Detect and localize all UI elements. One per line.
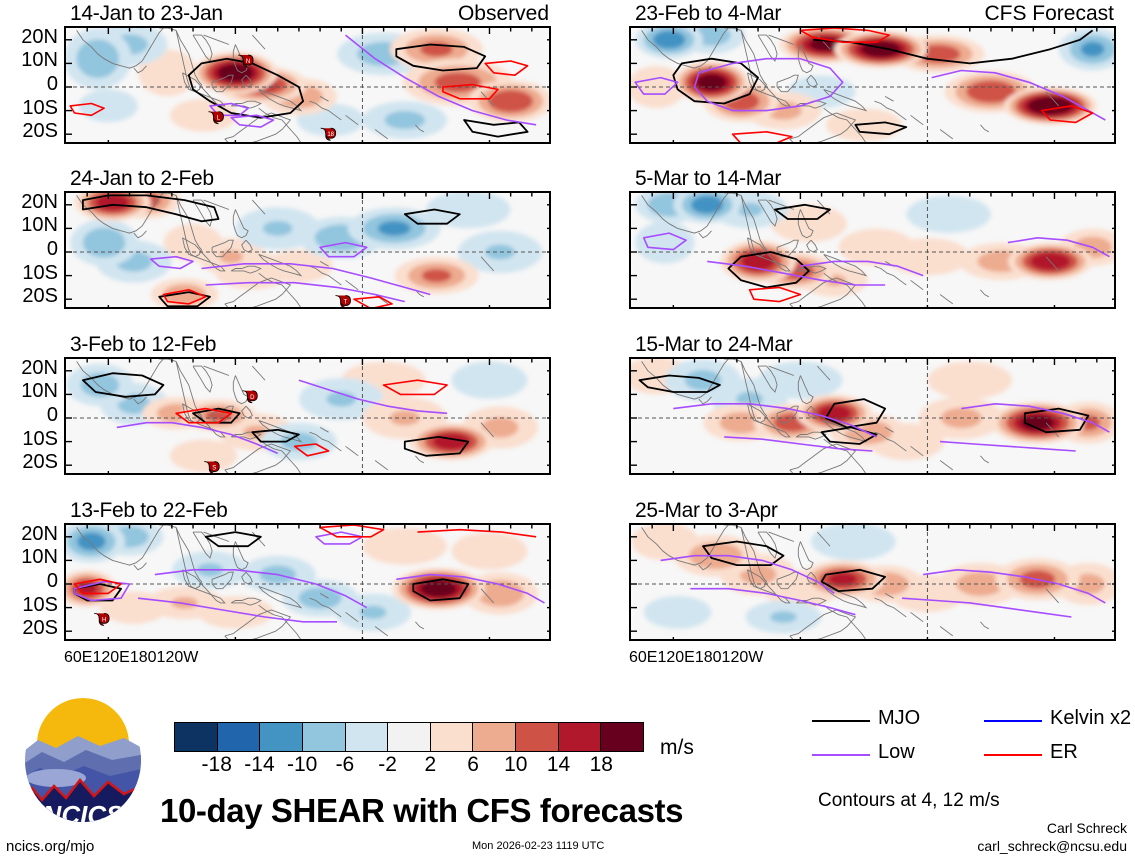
svg-text:H: H	[102, 617, 106, 623]
map-canvas: H	[66, 525, 551, 641]
contour-legend: MJOKelvin x2LowER	[812, 708, 1132, 770]
colorbar-segment	[388, 723, 431, 751]
panel-title: 24-Jan to 2-Feb	[70, 167, 214, 191]
author-name: Carl Schreck	[1047, 820, 1127, 836]
colorbar-tick-labels: -18-14-10-6-226101418	[174, 753, 644, 781]
map-panel[interactable]: H	[64, 523, 551, 641]
x-tick-label: 120W	[722, 649, 764, 666]
panel-title: 13-Feb to 22-Feb	[70, 499, 227, 523]
colorbar-segment	[431, 723, 474, 751]
logo-text: NCICS	[43, 800, 125, 830]
colorbar-tick-label: -6	[336, 753, 355, 777]
colorbar-tick-label: 14	[547, 753, 570, 777]
map-canvas: T	[66, 193, 551, 309]
map-canvas: DS	[66, 359, 551, 475]
colorbar-tick-label: -2	[378, 753, 397, 777]
svg-text:D: D	[250, 395, 255, 401]
shaded-anomaly-field	[66, 193, 551, 309]
colorbar-segment	[601, 723, 643, 751]
x-tick-label: 60E	[64, 649, 92, 666]
x-tick-label: 120E	[92, 649, 129, 666]
map-panel[interactable]	[629, 191, 1116, 309]
colorbar-segment	[175, 723, 218, 751]
column-header-label: Observed	[458, 2, 549, 26]
shaded-anomaly-field	[631, 193, 1116, 309]
panel-title: 25-Mar to 3-Apr	[635, 499, 778, 523]
y-tick-label: 0	[47, 571, 58, 591]
y-tick-label: 0	[47, 74, 58, 94]
panel-title: 14-Jan to 23-Jan	[70, 2, 223, 26]
y-tick-label: 10S	[22, 595, 58, 615]
y-tick-label: 10N	[21, 381, 58, 401]
x-tick-label: 120E	[657, 649, 694, 666]
ncics-logo[interactable]: NCICS	[20, 696, 146, 838]
column-header-label: CFS Forecast	[984, 2, 1114, 26]
y-tick-label: 10S	[22, 263, 58, 283]
y-tick-label: 20S	[22, 452, 58, 472]
svg-text:18: 18	[327, 132, 334, 138]
colorbar-segment	[516, 723, 559, 751]
legend-label: ER	[1050, 741, 1078, 764]
y-tick-label: 20S	[22, 286, 58, 306]
panel-title: 5-Mar to 14-Mar	[635, 167, 781, 191]
y-tick-label: 20S	[22, 618, 58, 638]
x-axis-labels-left: 60E120E180120W	[64, 649, 551, 675]
colorbar-tick-label: 6	[467, 753, 479, 777]
legend-line-swatch	[812, 720, 870, 722]
panel-title: 23-Feb to 4-Mar	[635, 2, 781, 26]
colorbar-segment	[473, 723, 516, 751]
panel-title: 3-Feb to 12-Feb	[70, 333, 216, 357]
y-tick-label: 0	[47, 405, 58, 425]
map-panel[interactable]: NL18	[64, 26, 551, 144]
y-axis-labels: 20N10N010S20S	[0, 26, 58, 144]
map-canvas	[631, 359, 1116, 475]
map-canvas	[631, 28, 1116, 144]
shaded-anomaly-field	[631, 359, 1116, 475]
colorbar-swatches	[174, 722, 644, 752]
figure-title: 10-day SHEAR with CFS forecasts	[160, 792, 683, 830]
map-canvas: NL18	[66, 28, 551, 144]
site-url-text[interactable]: ncics.org/mjo	[6, 838, 94, 855]
svg-text:N: N	[246, 59, 250, 65]
y-tick-label: 20N	[21, 192, 58, 212]
map-canvas	[631, 193, 1116, 309]
y-axis-labels: 20N10N010S20S	[0, 357, 58, 475]
legend-label: Low	[878, 741, 915, 764]
svg-text:S: S	[212, 466, 216, 472]
colorbar-segment	[346, 723, 389, 751]
y-tick-label: 10N	[21, 547, 58, 567]
legend-label: Kelvin x2	[1050, 707, 1131, 730]
svg-text:T: T	[344, 300, 348, 306]
y-tick-label: 20N	[21, 524, 58, 544]
y-axis-labels: 20N10N010S20S	[0, 523, 58, 641]
y-axis-labels: 20N10N010S20S	[0, 191, 58, 309]
colorbar-tick-label: -14	[244, 753, 274, 777]
colorbar-tick-label: -18	[202, 753, 232, 777]
y-tick-label: 20N	[21, 27, 58, 47]
y-tick-label: 10S	[22, 98, 58, 118]
colorbar-segment	[218, 723, 261, 751]
legend-line-swatch	[812, 754, 870, 756]
colorbar-units-label: m/s	[660, 736, 694, 760]
author-email[interactable]: carl_schreck@ncsu.edu	[977, 838, 1127, 854]
x-tick-label: 180	[695, 649, 722, 666]
y-tick-label: 10S	[22, 429, 58, 449]
map-panel[interactable]: T	[64, 191, 551, 309]
y-tick-label: 20S	[22, 121, 58, 141]
colorbar: -18-14-10-6-226101418	[174, 722, 644, 752]
x-tick-label: 120W	[157, 649, 199, 666]
colorbar-segment	[260, 723, 303, 751]
map-panel[interactable]	[629, 523, 1116, 641]
map-panel[interactable]	[629, 26, 1116, 144]
x-axis-labels-right: 60E120E180120W	[629, 649, 1116, 675]
y-tick-label: 20N	[21, 358, 58, 378]
legend-line-swatch	[984, 754, 1042, 756]
panel-title: 15-Mar to 24-Mar	[635, 333, 792, 357]
colorbar-tick-label: 2	[425, 753, 437, 777]
y-tick-label: 10N	[21, 50, 58, 70]
colorbar-segment	[559, 723, 602, 751]
contour-levels-note: Contours at 4, 12 m/s	[818, 790, 1000, 812]
shaded-anomaly-field	[66, 359, 551, 475]
colorbar-tick-label: 10	[504, 753, 527, 777]
map-panel[interactable]	[629, 357, 1116, 475]
map-panel[interactable]: DS	[64, 357, 551, 475]
colorbar-segment	[303, 723, 346, 751]
colorbar-tick-label: 18	[590, 753, 613, 777]
legend-label: MJO	[878, 707, 920, 730]
legend-line-swatch	[984, 720, 1042, 722]
colorbar-tick-label: -10	[287, 753, 317, 777]
shaded-anomaly-field	[631, 525, 1116, 641]
timestamp-text: Mon 2026-02-23 1119 UTC	[472, 840, 604, 852]
y-tick-label: 0	[47, 239, 58, 259]
y-tick-label: 10N	[21, 215, 58, 235]
x-tick-label: 180	[130, 649, 157, 666]
x-tick-label: 60E	[629, 649, 657, 666]
map-canvas	[631, 525, 1116, 641]
